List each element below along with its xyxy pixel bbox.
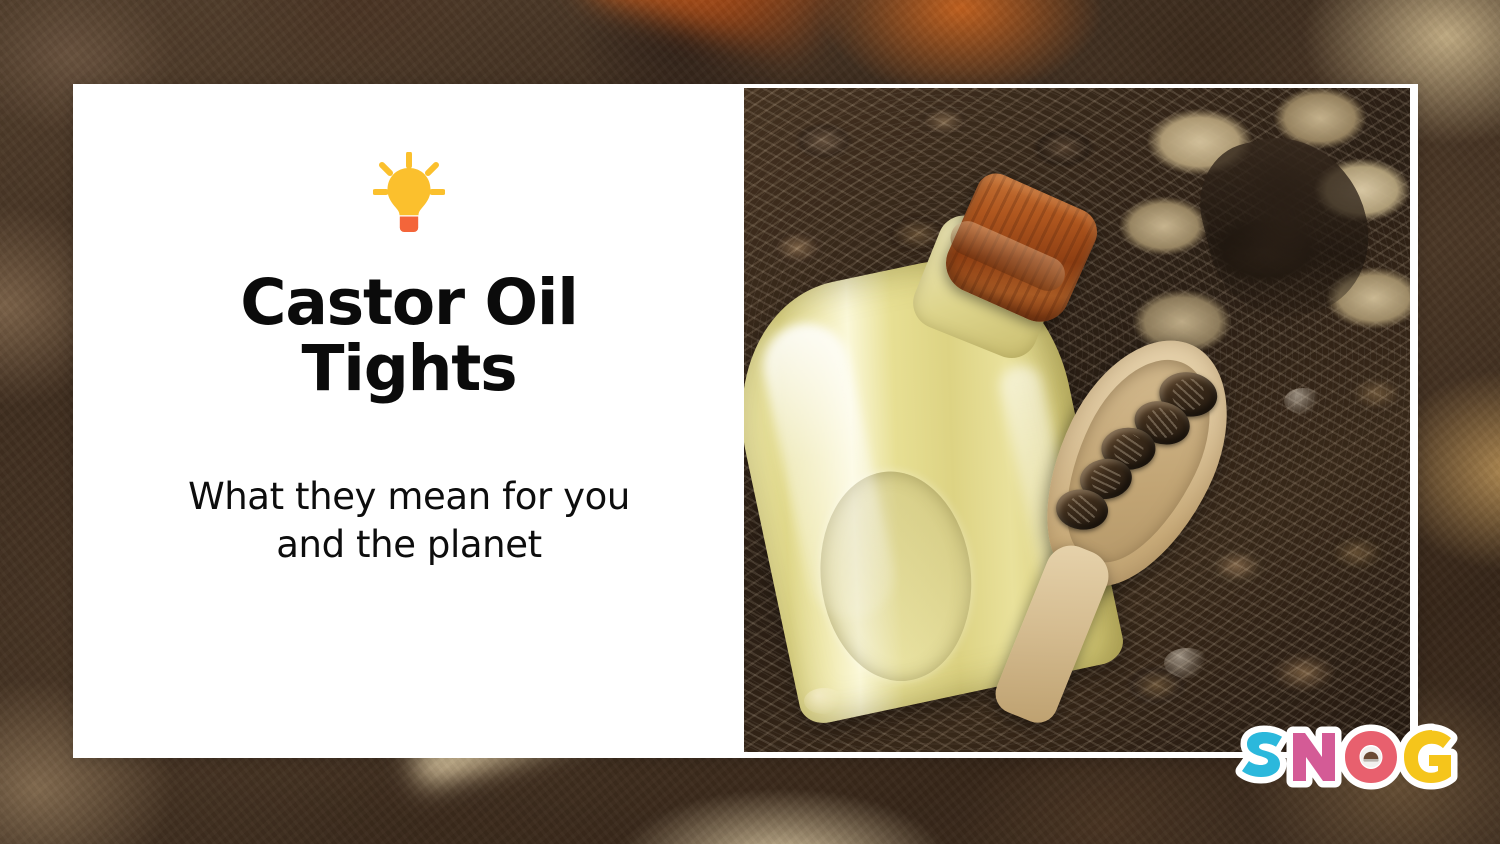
photo-column (745, 84, 1418, 758)
castor-oil-bottle-photo (744, 88, 1410, 752)
spoon-handle (990, 538, 1117, 729)
bean-highlight (1164, 648, 1210, 678)
poster-canvas: Castor Oil Tights What they mean for you… (0, 0, 1500, 844)
bean-highlight (804, 688, 844, 714)
content-card: Castor Oil Tights What they mean for you… (73, 84, 1418, 758)
frozen-yogurt-cup-icon (1361, 747, 1382, 768)
lightbulb-icon (373, 152, 445, 238)
page-subtitle: What they mean for you and the planet (149, 473, 669, 569)
page-title: Castor Oil Tights (129, 270, 689, 401)
bean-highlight (1284, 388, 1322, 414)
text-column: Castor Oil Tights What they mean for you… (73, 84, 745, 758)
snog-logo[interactable] (1230, 718, 1458, 796)
